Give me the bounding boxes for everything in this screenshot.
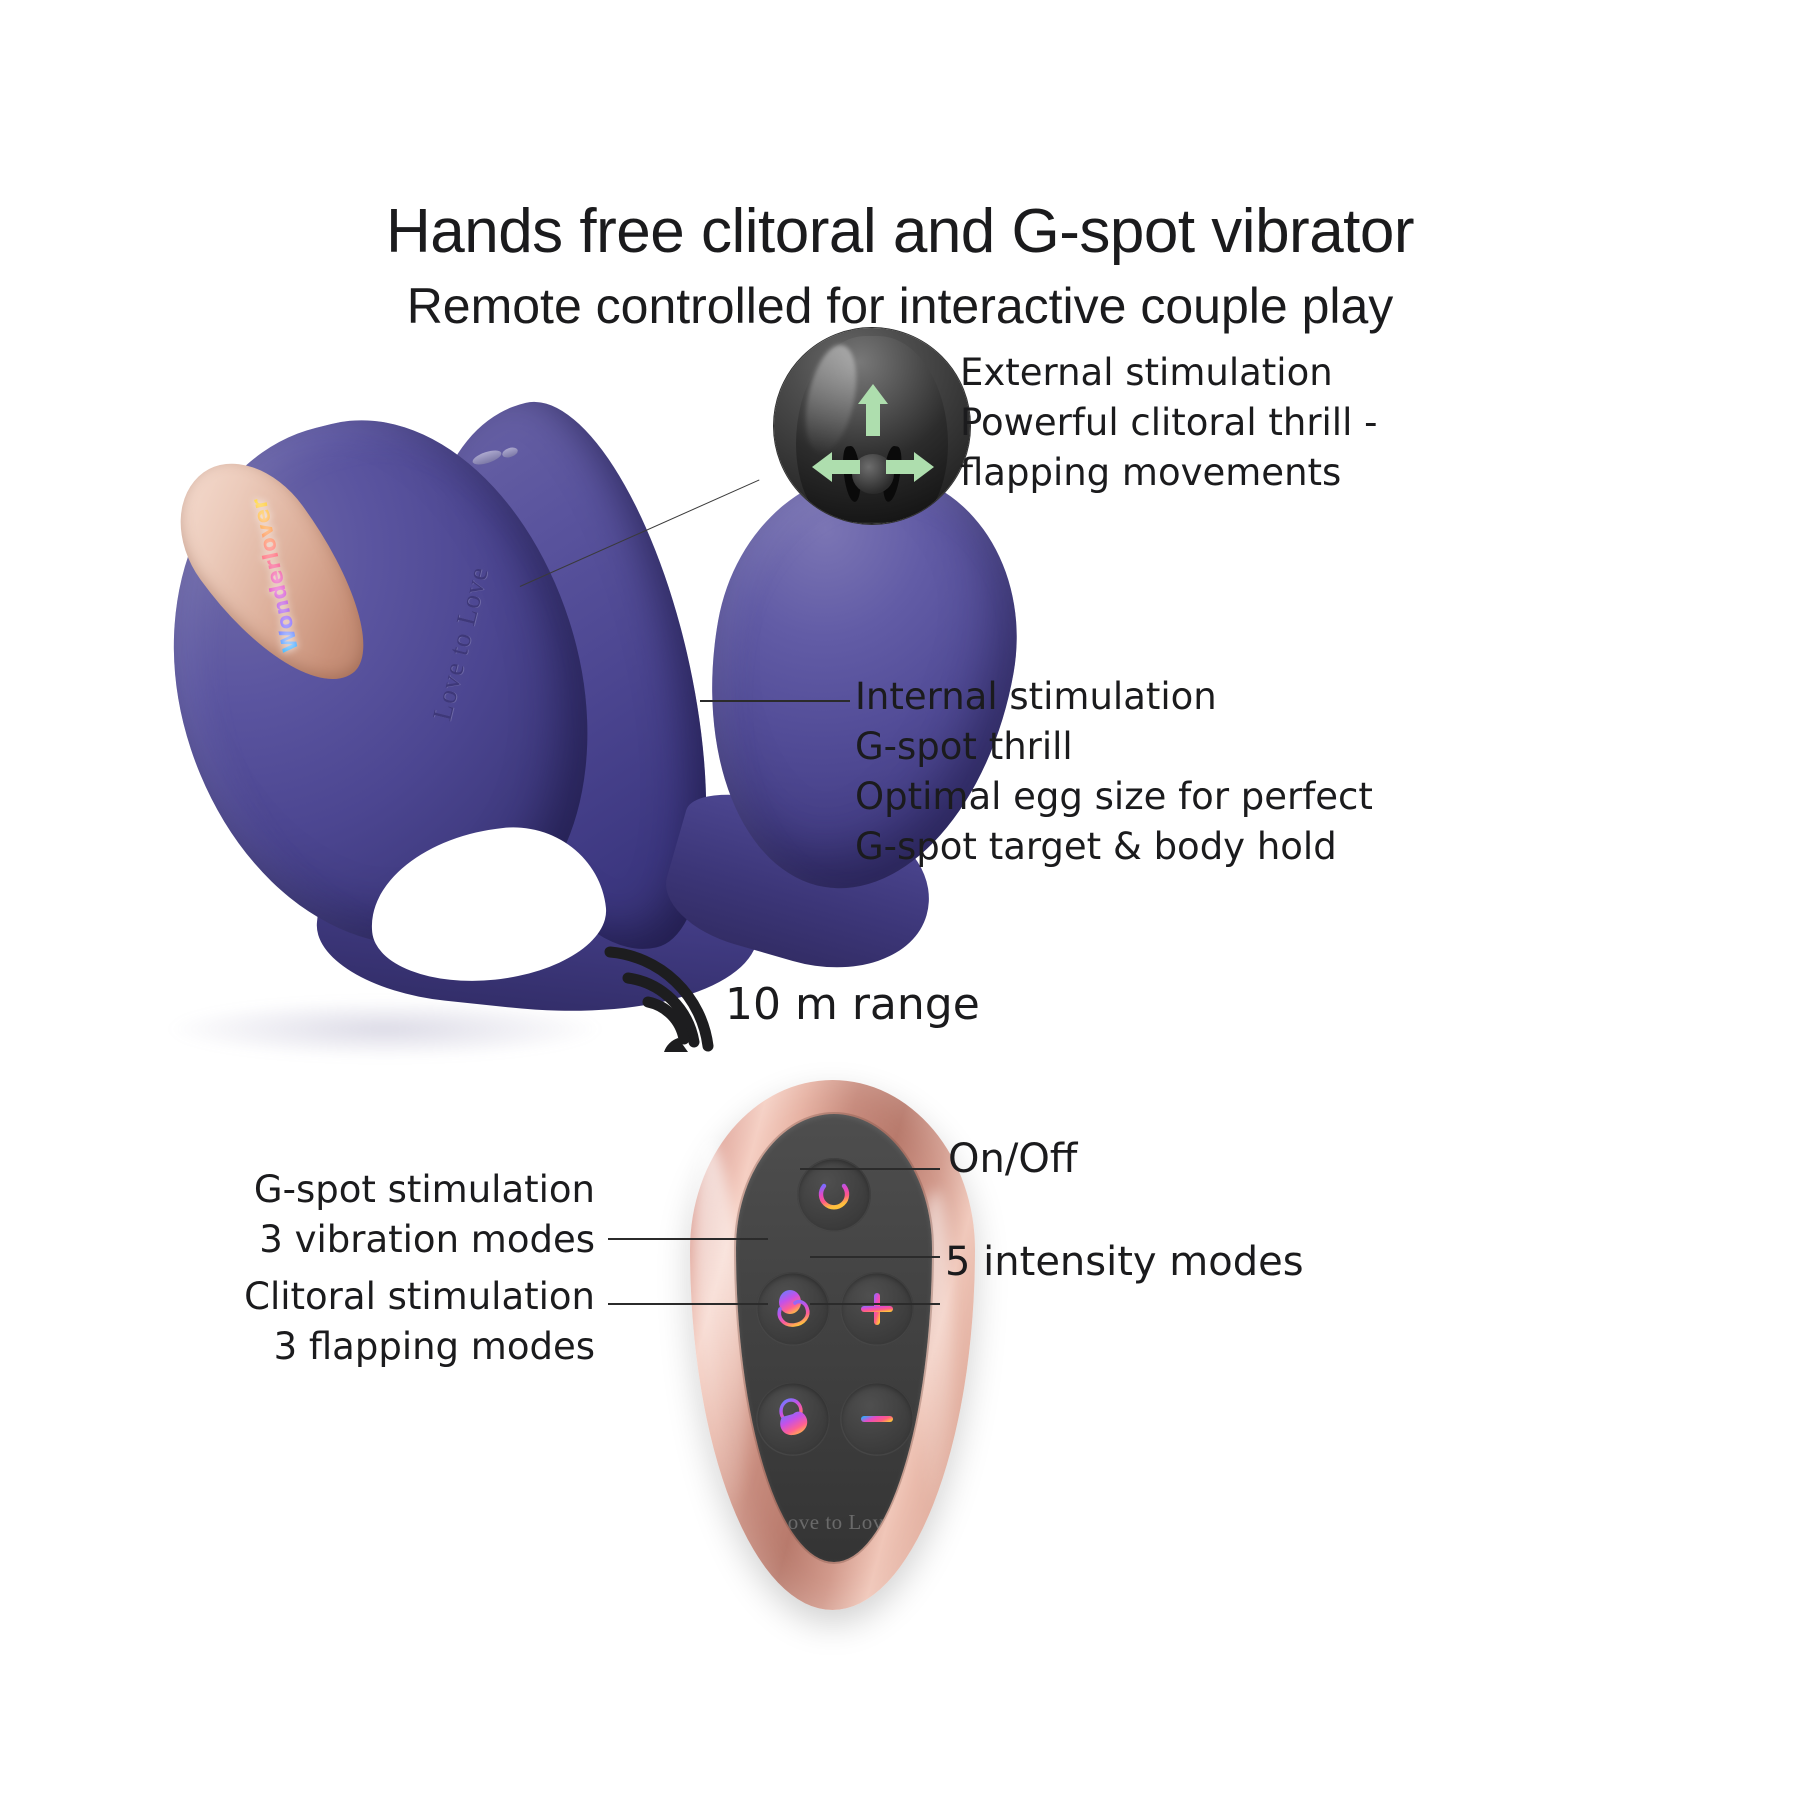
page-title: Hands free clitoral and G-spot vibrator — [0, 196, 1800, 267]
minus-icon — [857, 1399, 897, 1439]
leader-line-intensity-plus — [810, 1256, 940, 1258]
leader-line-gspot — [608, 1238, 768, 1240]
vibrator-product-image: Wonderlover Love to Love — [150, 360, 870, 1060]
clitoral-flapping-icon — [771, 1397, 815, 1441]
intensity-down-button[interactable] — [840, 1382, 914, 1456]
callout-external-stimulation: External stimulation Powerful clitoral t… — [960, 348, 1430, 498]
infographic-canvas: Hands free clitoral and G-spot vibrator … — [0, 0, 1800, 1800]
leader-line-onoff — [800, 1168, 940, 1170]
leader-line-intensity-minus — [810, 1303, 940, 1305]
arrow-right-icon — [886, 450, 934, 484]
remote-control-image: Love to Love — [690, 1080, 990, 1640]
leader-line-internal — [700, 700, 850, 702]
callout-intensity-modes: 5 intensity modes — [945, 1237, 1304, 1287]
intensity-up-button[interactable] — [840, 1272, 914, 1346]
callout-internal-stimulation: Internal stimulation G-spot thrill Optim… — [855, 672, 1395, 872]
external-detail-bubble — [773, 327, 971, 525]
callout-gspot-modes: G-spot stimulation 3 vibration modes — [200, 1165, 595, 1265]
power-icon — [814, 1175, 854, 1215]
callout-range: 10 m range — [725, 977, 980, 1033]
arrow-up-icon — [856, 384, 890, 436]
wireless-range-icon — [600, 940, 720, 1060]
gspot-mode-button[interactable] — [756, 1272, 830, 1346]
arrow-left-icon — [812, 450, 860, 484]
callout-on-off: On/Off — [948, 1134, 1077, 1184]
plus-icon — [857, 1289, 897, 1329]
brand-light-text: Wonderlover — [247, 496, 303, 654]
remote-brand-label: Love to Love — [736, 1510, 932, 1535]
leader-line-clitoral — [608, 1303, 768, 1305]
page-subtitle: Remote controlled for interactive couple… — [0, 277, 1800, 335]
callout-clitoral-modes: Clitoral stimulation 3 flapping modes — [200, 1272, 595, 1372]
clitoral-mode-button[interactable] — [756, 1382, 830, 1456]
egg-vibration-icon — [771, 1287, 815, 1331]
